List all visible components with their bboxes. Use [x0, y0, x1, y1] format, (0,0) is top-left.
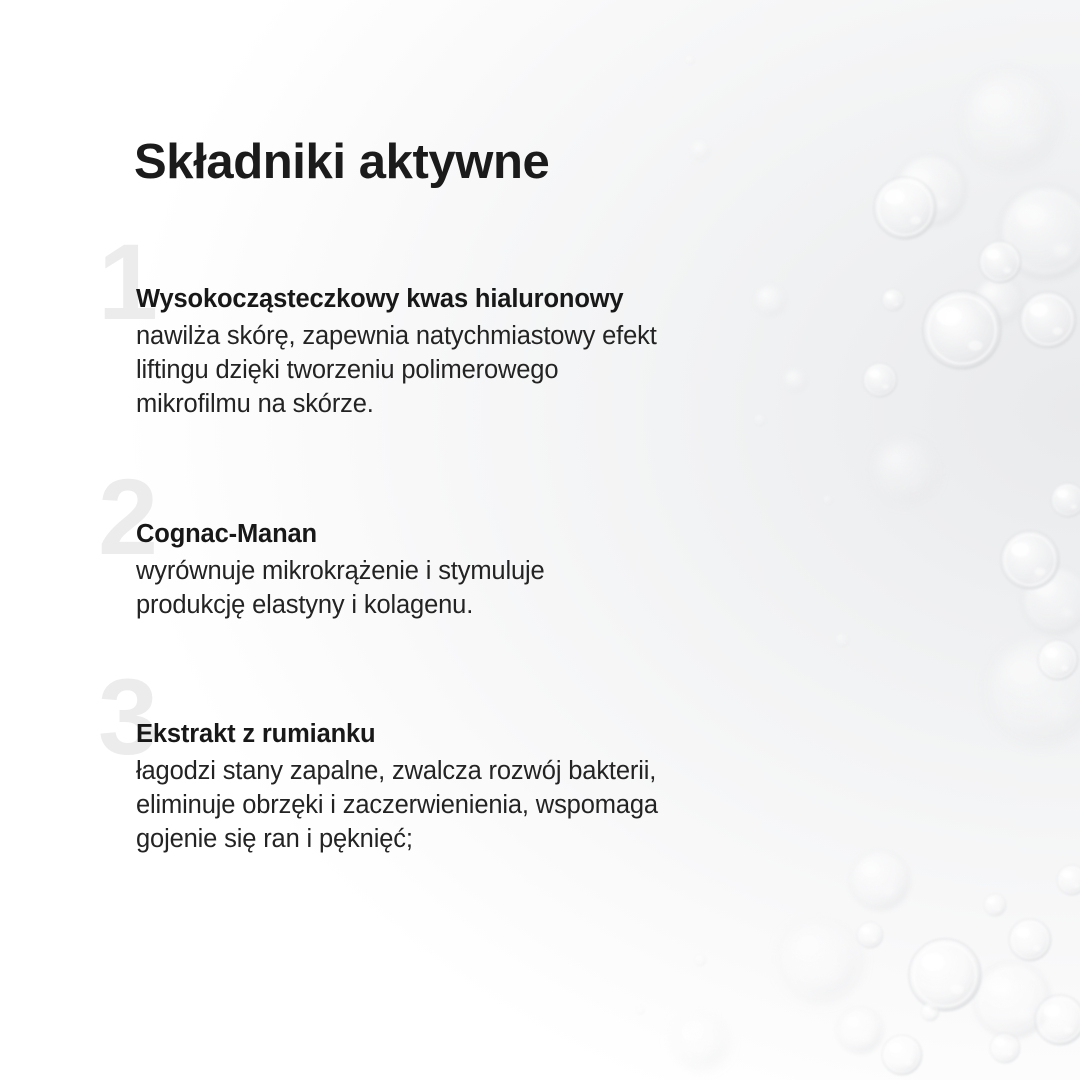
ingredient-item: 2 Cognac-Manan wyrównuje mikrokrążenie i… [0, 471, 860, 622]
ingredient-heading: Cognac-Manan [136, 519, 860, 551]
ingredient-description: łagodzi stany zapalne, zwalcza rozwój ba… [136, 754, 816, 856]
ingredient-body: Cognac-Manan wyrównuje mikrokrążenie i s… [136, 471, 860, 622]
ingredient-heading: Wysokocząsteczkowy kwas hialuronowy [136, 284, 860, 316]
ingredient-item: 1 Wysokocząsteczkowy kwas hialuronowy na… [0, 236, 860, 421]
ingredient-description: nawilża skórę, zapewnia natychmiastowy e… [136, 319, 816, 421]
page-title: Składniki aktywne [134, 135, 549, 190]
ingredient-body: Wysokocząsteczkowy kwas hialuronowy nawi… [136, 236, 860, 421]
ingredient-heading: Ekstrakt z rumianku [136, 719, 860, 751]
slide-content: Składniki aktywne 1 Wysokocząsteczkowy k… [0, 0, 1080, 1080]
ingredient-description: wyrównuje mikrokrążenie i stymuluje prod… [136, 554, 816, 622]
ingredient-item: 3 Ekstrakt z rumianku łagodzi stany zapa… [0, 671, 860, 856]
ingredient-body: Ekstrakt z rumianku łagodzi stany zapaln… [136, 671, 860, 856]
